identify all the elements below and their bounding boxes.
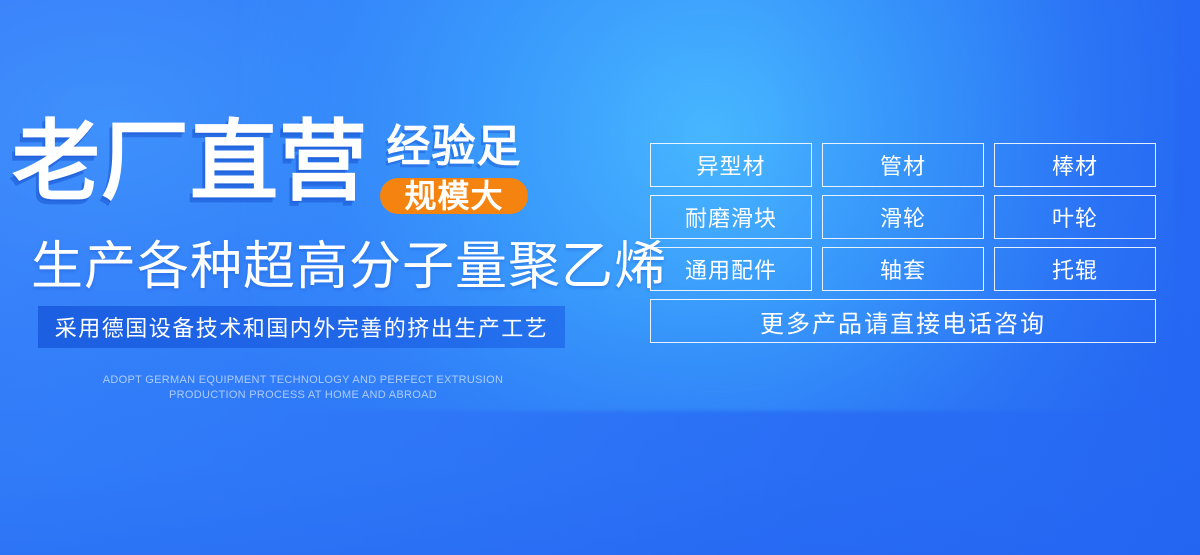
product-row: 通用配件 轴套 托辊 [650, 247, 1156, 291]
product-cell-pulley[interactable]: 滑轮 [822, 195, 984, 239]
product-label: 棒材 [1052, 149, 1098, 181]
headline-row: 老厂直营 经验足 规模大 [12, 118, 528, 214]
badge-scale-pill: 规模大 [380, 178, 528, 214]
product-label: 滑轮 [880, 201, 926, 233]
headline-primary: 老厂直营 [12, 118, 368, 206]
product-cell-wear-slider[interactable]: 耐磨滑块 [650, 195, 812, 239]
product-cell-impeller[interactable]: 叶轮 [994, 195, 1156, 239]
tagline-bar: 采用德国设备技术和国内外完善的挤出生产工艺 [38, 306, 565, 348]
badge-experience: 经验足 [380, 122, 528, 172]
product-row: 耐磨滑块 滑轮 叶轮 [650, 195, 1156, 239]
product-cell-bushing[interactable]: 轴套 [822, 247, 984, 291]
product-row: 异型材 管材 棒材 [650, 143, 1156, 187]
english-subtitle-line-2: PRODUCTION PROCESS AT HOME AND ABROAD [38, 388, 568, 403]
product-row-cta: 更多产品请直接电话咨询 [650, 299, 1156, 343]
english-subtitle-line-1: ADOPT GERMAN EQUIPMENT TECHNOLOGY AND PE… [38, 373, 568, 388]
product-cell-general-parts[interactable]: 通用配件 [650, 247, 812, 291]
product-cell-pipe[interactable]: 管材 [822, 143, 984, 187]
product-category-grid: 异型材 管材 棒材 耐磨滑块 滑轮 叶轮 通用配件 [650, 143, 1156, 343]
product-label: 叶轮 [1052, 201, 1098, 233]
headline-secondary: 生产各种超高分子量聚乙烯 [31, 238, 667, 296]
product-label: 耐磨滑块 [685, 201, 777, 233]
product-cell-rod[interactable]: 棒材 [994, 143, 1156, 187]
promo-banner: 老厂直营 经验足 规模大 生产各种超高分子量聚乙烯 采用德国设备技术和国内外完善… [0, 0, 1200, 555]
product-label: 异型材 [696, 149, 765, 181]
product-label: 管材 [880, 149, 926, 181]
product-label: 托辊 [1052, 253, 1098, 285]
product-cell-profile[interactable]: 异型材 [650, 143, 812, 187]
headline-block: 老厂直营 经验足 规模大 生产各种超高分子量聚乙烯 采用德国设备技术和国内外完善… [0, 0, 620, 555]
badge-stack: 经验足 规模大 [380, 122, 528, 214]
tagline-text: 采用德国设备技术和国内外完善的挤出生产工艺 [55, 311, 549, 343]
product-cell-idler-roller[interactable]: 托辊 [994, 247, 1156, 291]
product-label: 通用配件 [685, 253, 777, 285]
product-label: 轴套 [880, 253, 926, 285]
contact-cta-label: 更多产品请直接电话咨询 [760, 304, 1046, 339]
contact-cta-button[interactable]: 更多产品请直接电话咨询 [650, 299, 1156, 343]
english-subtitle: ADOPT GERMAN EQUIPMENT TECHNOLOGY AND PE… [38, 373, 568, 403]
